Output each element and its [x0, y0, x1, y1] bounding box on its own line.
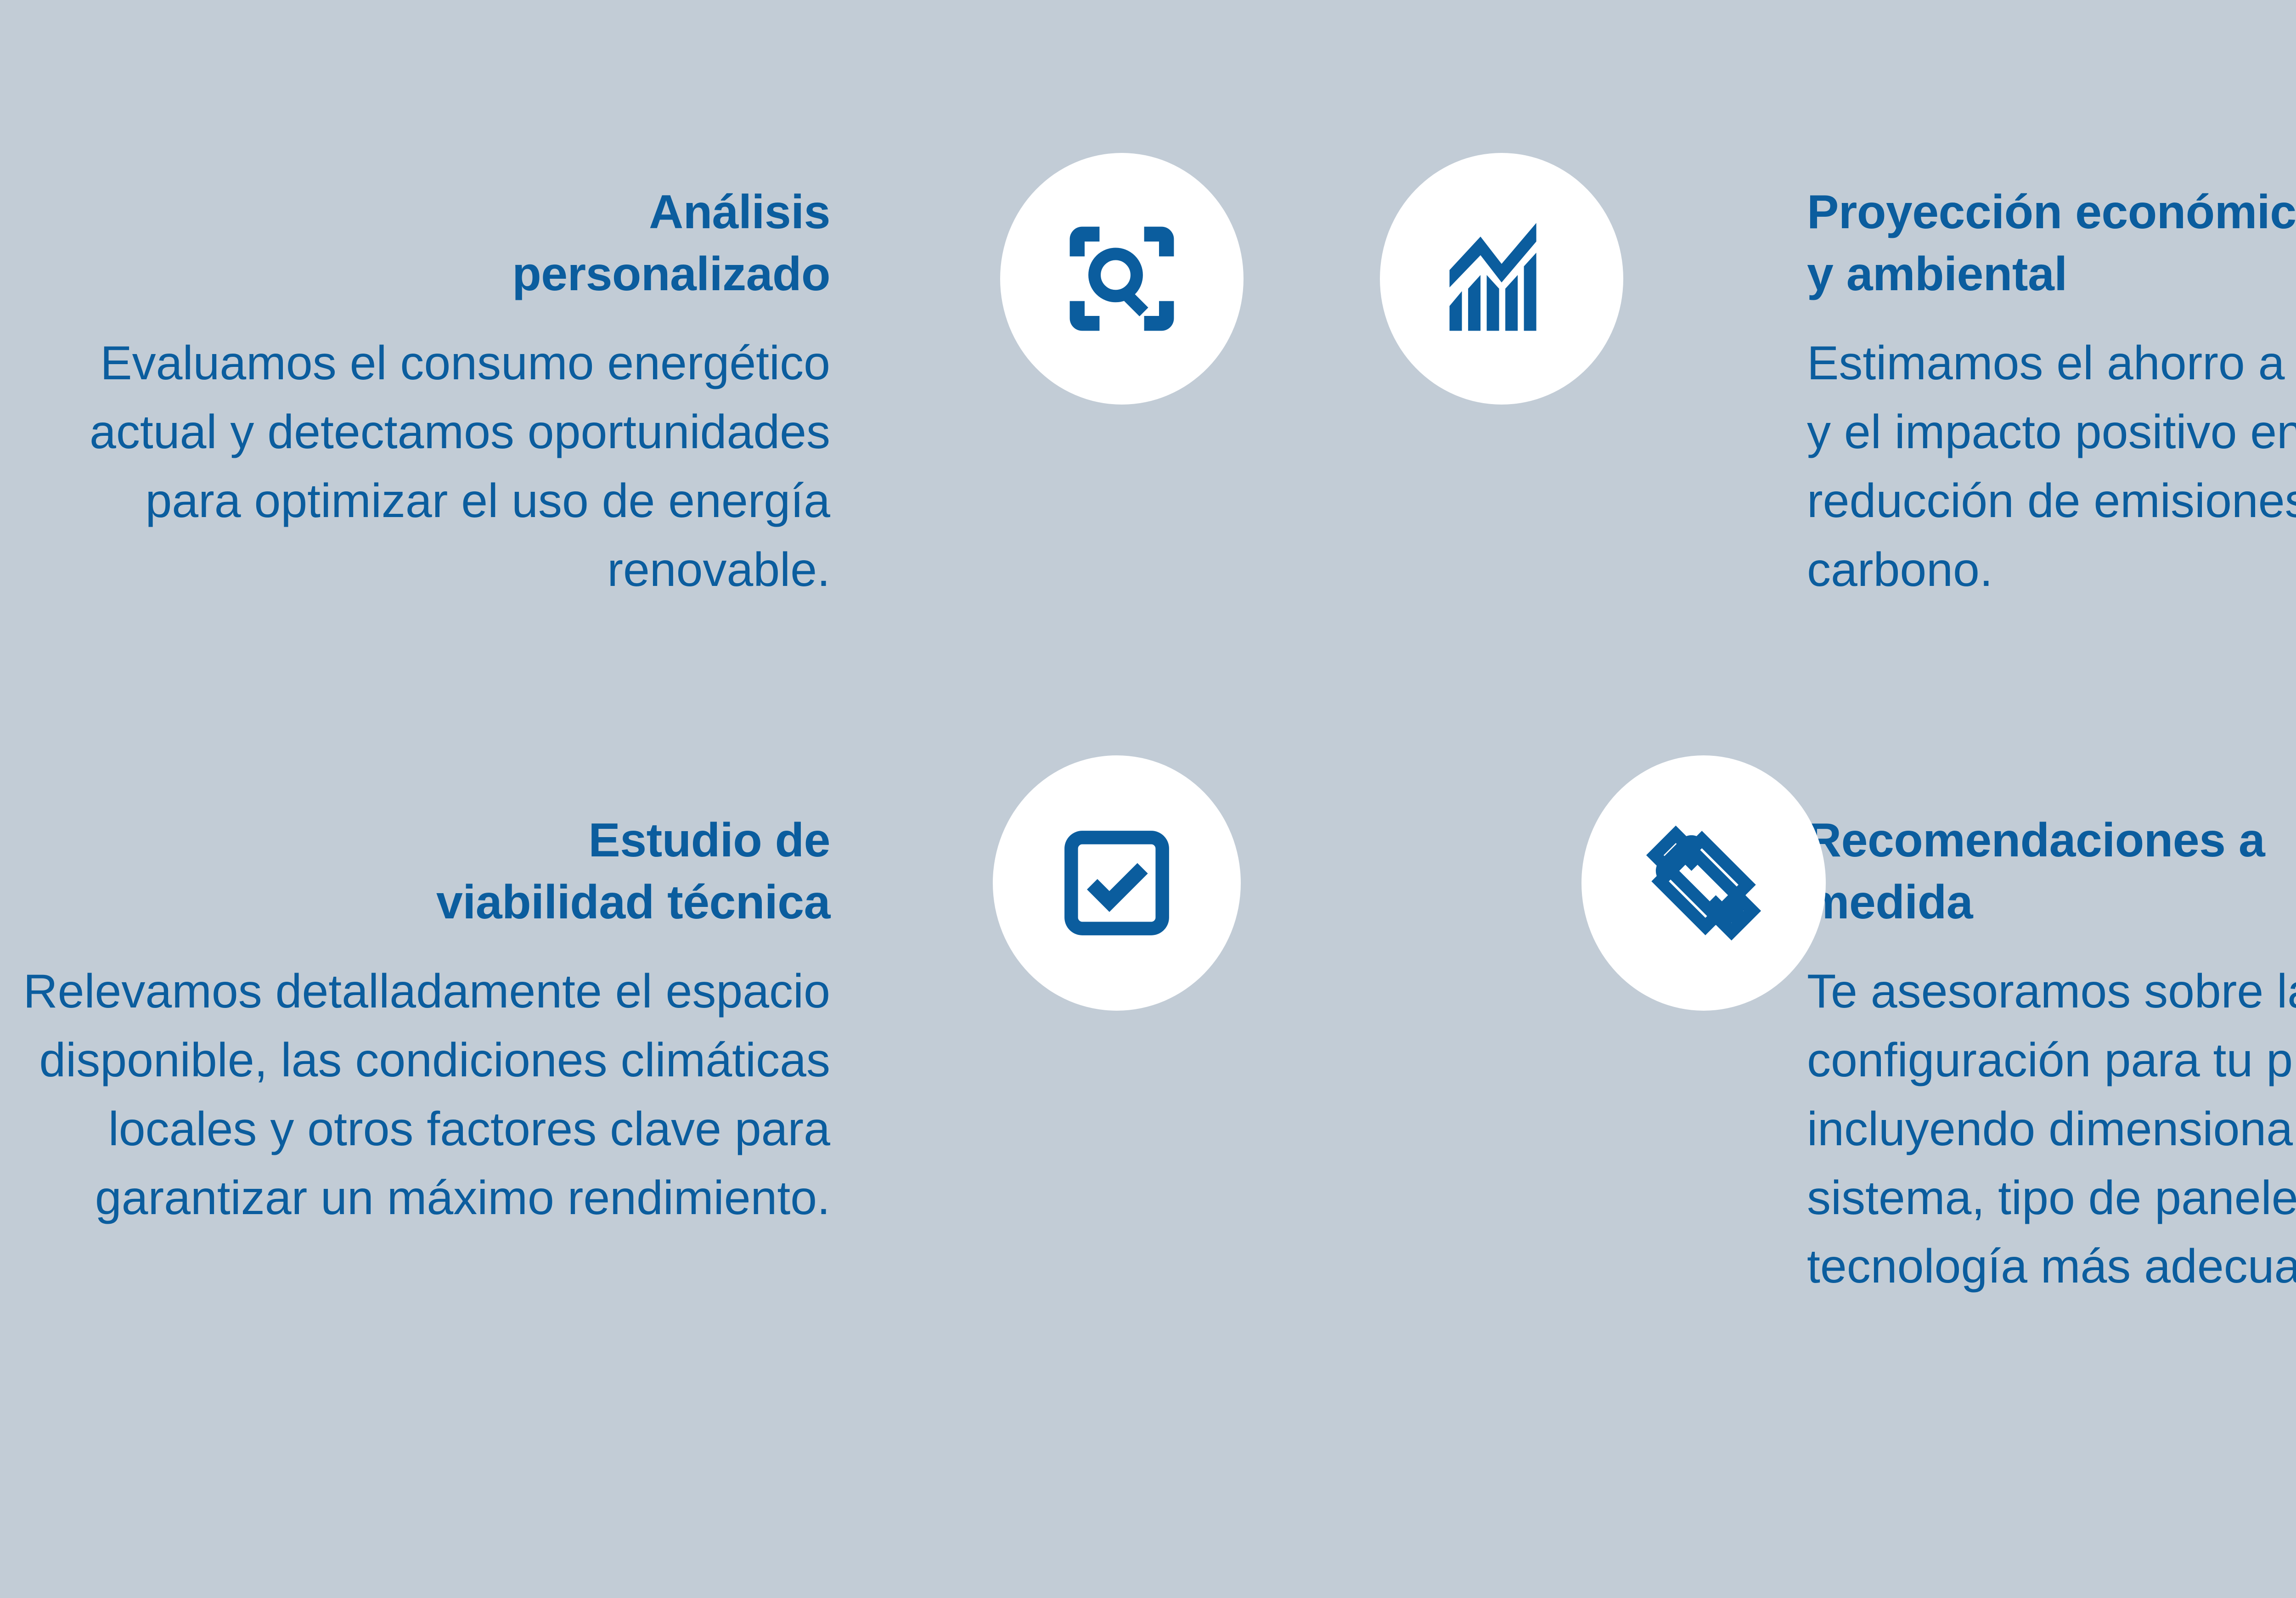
card-analysis: Análisis personalizado Evaluamos el cons… — [0, 181, 830, 604]
card-feasibility-title: Estudio de viabilidad técnica — [0, 810, 830, 934]
icon-badge-feasibility — [993, 755, 1241, 1011]
icon-badge-analysis — [1000, 153, 1244, 405]
card-analysis-body: Evaluamos el consumo energético actual y… — [0, 329, 830, 604]
infographic-canvas: Análisis personalizado Evaluamos el cons… — [0, 0, 2296, 1598]
card-feasibility: Estudio de viabilidad técnica Relevamos … — [0, 810, 830, 1232]
checkbox-check-icon — [1055, 822, 1178, 945]
card-feasibility-body: Relevamos detalladamente el espacio disp… — [0, 957, 830, 1232]
card-recommendations-body: Te asesoramos sobre la mejor configuraci… — [1807, 957, 2296, 1301]
pencil-ruler-icon — [1642, 822, 1765, 945]
card-recommendations: Recomendaciones a medida Te asesoramos s… — [1807, 810, 2296, 1301]
scan-search-icon — [1060, 217, 1184, 341]
card-projection: Proyección económica y ambiental Estimam… — [1807, 181, 2296, 604]
card-recommendations-title: Recomendaciones a medida — [1807, 810, 2296, 934]
card-projection-body: Estimamos el ahorro a largo plazo y el i… — [1807, 329, 2296, 604]
icon-badge-recommendations — [1581, 755, 1826, 1011]
growth-chart-icon — [1440, 217, 1564, 341]
icon-badge-projection — [1380, 153, 1623, 405]
card-analysis-title: Análisis personalizado — [0, 181, 830, 305]
card-projection-title: Proyección económica y ambiental — [1807, 181, 2296, 305]
